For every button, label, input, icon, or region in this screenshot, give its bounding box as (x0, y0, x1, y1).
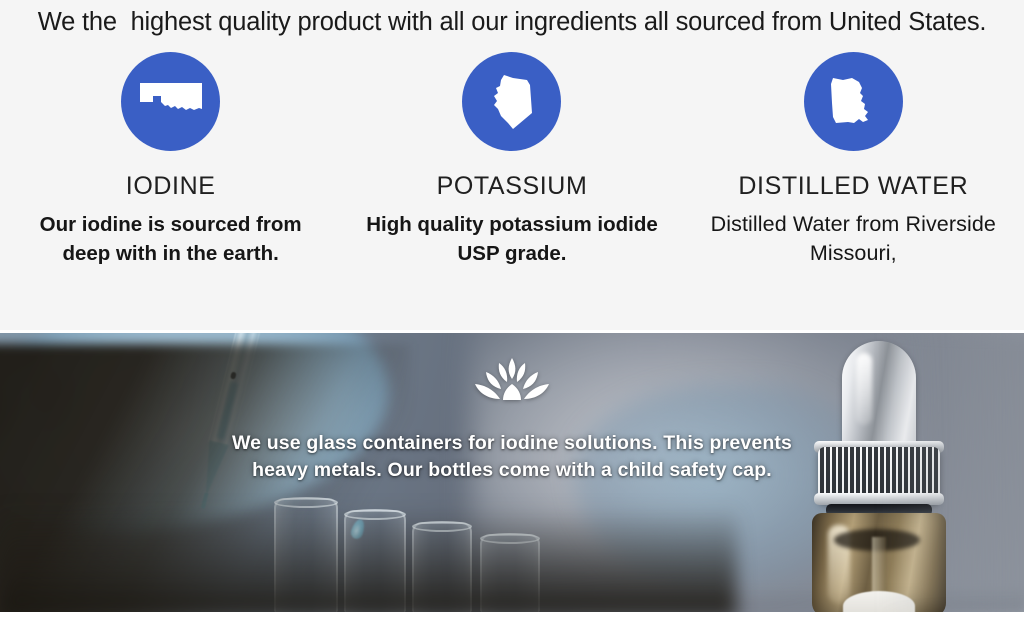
photo-vignette-right (881, 333, 1024, 612)
potassium-badge (462, 52, 561, 151)
lab-photo-background (0, 333, 1024, 612)
oklahoma-state-icon (138, 80, 204, 124)
ingredient-description-distilled-water: Distilled Water from Riverside Missouri, (703, 210, 1003, 268)
distilled-water-badge (804, 52, 903, 151)
lab-photo-banner: We use glass containers for iodine solut… (0, 333, 1024, 612)
ingredient-column-iodine: IODINE Our iodine is sourced from deep w… (0, 52, 341, 268)
ingredient-description-iodine: Our iodine is sourced from deep with in … (21, 210, 321, 268)
ingredient-description-potassium: High quality potassium iodide USP grade. (362, 210, 662, 268)
photo-vignette-bottom (0, 506, 737, 612)
iodine-badge (121, 52, 220, 151)
ingredient-title-distilled-water: DISTILLED WATER (738, 172, 968, 200)
ingredient-title-potassium: POTASSIUM (437, 172, 588, 200)
ingredient-column-potassium: POTASSIUM High quality potassium iodide … (341, 52, 682, 268)
ingredient-title-iodine: IODINE (126, 172, 216, 200)
missouri-state-icon (826, 73, 880, 131)
ingredients-panel: We the highest quality product with all … (0, 0, 1024, 330)
ingredient-column-distilled-water: DISTILLED WATER Distilled Water from Riv… (683, 52, 1024, 268)
arizona-state-icon (489, 73, 535, 131)
page-headline: We the highest quality product with all … (0, 7, 1024, 37)
bottom-white-strip (0, 612, 1024, 621)
ingredient-columns: IODINE Our iodine is sourced from deep w… (0, 52, 1024, 268)
product-ingredients-infographic: We the highest quality product with all … (0, 0, 1024, 621)
